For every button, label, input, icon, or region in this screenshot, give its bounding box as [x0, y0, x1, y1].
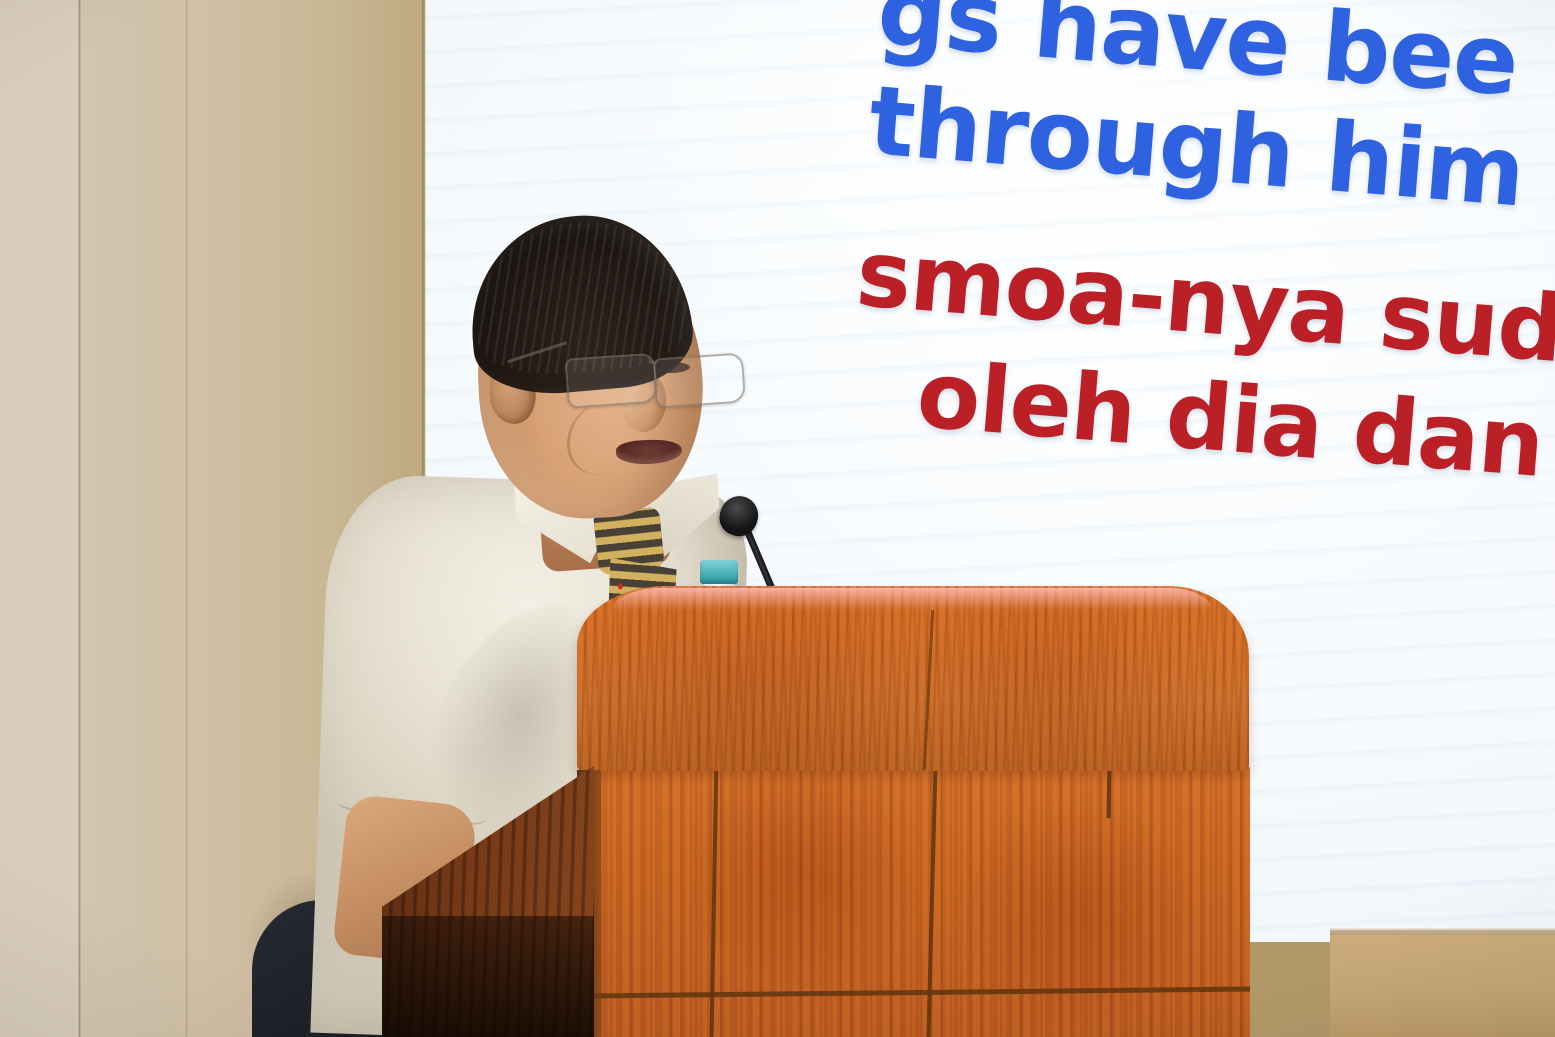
eyeglasses-icon: [527, 329, 742, 423]
projection-screen-bottom-edge: [1330, 930, 1555, 935]
bottle-ribs: [690, 718, 748, 760]
bottle-neck: [704, 582, 734, 604]
speaker-arm: [332, 794, 478, 967]
screenshot-scene: gs have bee through him and smoa-nya sud…: [0, 0, 1555, 1037]
bottle-brand-text: Splash: [696, 664, 752, 682]
water-bottle: Splash: [686, 560, 752, 760]
eyeglass-lens-right: [653, 352, 746, 408]
wall-panel-seam: [185, 0, 188, 1037]
eyeglass-bridge: [649, 361, 657, 364]
eyeglass-lens-left: [565, 353, 658, 409]
wall-lower-band: [1330, 935, 1555, 1037]
bottle-cap: [700, 560, 738, 584]
wall-panel-seam: [78, 0, 81, 1037]
